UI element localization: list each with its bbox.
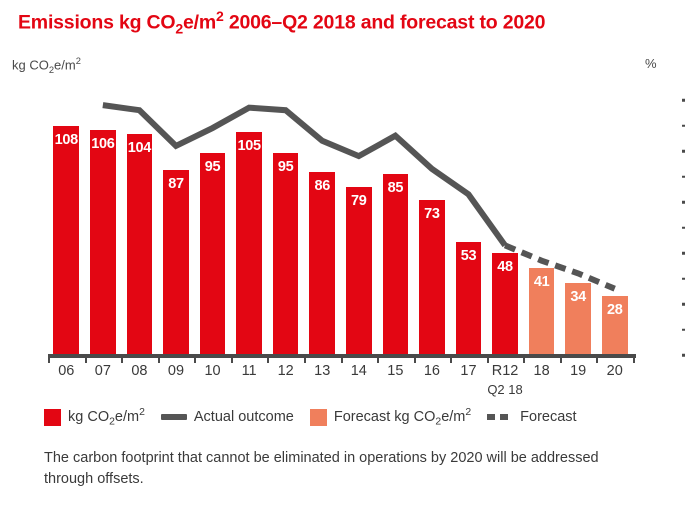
bar-value-label: 28 (607, 302, 623, 318)
bar-value-label: 85 (388, 180, 404, 196)
bar-rect: 108 (53, 126, 79, 356)
x-axis-tick-label: 06 (58, 363, 74, 379)
bar-rect: 48 (492, 253, 518, 355)
bar-rect: 87 (163, 170, 189, 355)
legend-label: Forecast (520, 409, 576, 425)
x-axis-tick-label: 13 (314, 363, 330, 379)
x-axis-tick-mark (85, 356, 87, 363)
bar-rect: 34 (565, 283, 591, 355)
chart-footnote: The carbon footprint that cannot be elim… (44, 448, 644, 489)
bar-value-label: 108 (55, 132, 78, 148)
x-axis-tick-label: 09 (168, 363, 184, 379)
actual-bar[interactable]: 86 (309, 172, 335, 355)
bar-value-label: 87 (168, 176, 184, 192)
bar-value-label: 48 (497, 259, 513, 275)
actual-bar[interactable]: 87 (163, 170, 189, 355)
legend-label: Forecast kg CO2e/m2 (334, 407, 471, 428)
actual-bar[interactable]: 105 (236, 132, 262, 355)
x-axis-tick-label: 12 (278, 363, 294, 379)
x-axis-tick-label: R12 (492, 363, 519, 379)
actual-bar[interactable]: 95 (200, 153, 226, 355)
x-axis-tick-mark (450, 356, 452, 363)
actual-bar[interactable]: 95 (273, 153, 299, 355)
forecast-bar[interactable]: 34 (565, 283, 591, 355)
x-axis-tick-mark (487, 356, 489, 363)
x-axis-tick-label: 20 (607, 363, 623, 379)
x-axis-tick-mark (633, 356, 635, 363)
x-axis-tick-mark (377, 356, 379, 363)
x-axis-tick-mark (194, 356, 196, 363)
x-axis-tick-label: 14 (351, 363, 367, 379)
x-axis-tick-mark (158, 356, 160, 363)
legend-item[interactable]: Forecast kg CO2e/m2 (310, 407, 471, 428)
x-axis-tick-label: 18 (534, 363, 550, 379)
bar-rect: 79 (346, 187, 372, 355)
bar-series: 108106104879510595867985735348413428 (48, 100, 633, 355)
x-axis-tick-mark (304, 356, 306, 363)
bar-value-label: 86 (314, 178, 330, 194)
x-axis-tick-mark (414, 356, 416, 363)
x-axis-tick-mark (341, 356, 343, 363)
actual-bar[interactable]: 104 (127, 134, 153, 355)
actual-bar[interactable]: 108 (53, 126, 79, 356)
x-axis-tick-mark (121, 356, 123, 363)
bar-rect: 95 (273, 153, 299, 355)
chart-legend: kg CO2e/m2Actual outcomeForecast kg CO2e… (44, 407, 593, 428)
x-axis-sub-label: Q2 18 (487, 382, 522, 397)
x-axis-tick-label: 10 (204, 363, 220, 379)
plot-area: 020406080100120 0−10−20−30−40−50−60−70−8… (48, 100, 633, 355)
bar-value-label: 73 (424, 206, 440, 222)
legend-label: kg CO2e/m2 (68, 407, 145, 428)
actual-bar[interactable]: 106 (90, 130, 116, 355)
x-axis-tick-mark (596, 356, 598, 363)
x-axis-tick-label: 08 (131, 363, 147, 379)
actual-bar[interactable]: 48 (492, 253, 518, 355)
bar-rect: 28 (602, 296, 628, 356)
bar-rect: 73 (419, 200, 445, 355)
x-axis-tick-label: 16 (424, 363, 440, 379)
x-axis-tick-label: 07 (95, 363, 111, 379)
actual-bar[interactable]: 73 (419, 200, 445, 355)
bar-rect: 85 (383, 174, 409, 355)
dashed-line-swatch (487, 414, 513, 420)
salmon-square-swatch (310, 409, 327, 426)
bar-value-label: 105 (237, 138, 260, 154)
x-axis-tick-mark (560, 356, 562, 363)
forecast-bar[interactable]: 41 (529, 268, 555, 355)
chart-title: Emissions kg CO2e/m2 2006–Q2 2018 and fo… (18, 8, 545, 36)
bar-value-label: 95 (278, 159, 294, 175)
legend-label: Actual outcome (194, 409, 294, 425)
bar-value-label: 104 (128, 140, 151, 156)
solid-line-swatch (161, 414, 187, 420)
bar-value-label: 95 (205, 159, 221, 175)
red-square-swatch (44, 409, 61, 426)
x-axis-tick-label: 17 (460, 363, 476, 379)
legend-item[interactable]: Actual outcome (161, 409, 294, 425)
x-axis-tick-mark (523, 356, 525, 363)
bar-value-label: 41 (534, 274, 550, 290)
bar-rect: 104 (127, 134, 153, 355)
chart-container: Emissions kg CO2e/m2 2006–Q2 2018 and fo… (0, 0, 685, 507)
bar-value-label: 53 (461, 248, 477, 264)
bar-rect: 53 (456, 242, 482, 355)
actual-bar[interactable]: 85 (383, 174, 409, 355)
forecast-bar[interactable]: 28 (602, 296, 628, 356)
bar-value-label: 79 (351, 193, 367, 209)
x-axis-tick-mark (267, 356, 269, 363)
legend-item[interactable]: kg CO2e/m2 (44, 407, 145, 428)
bar-rect: 105 (236, 132, 262, 355)
x-axis-tick-label: 11 (242, 363, 257, 379)
right-axis-unit-label: % (645, 56, 657, 71)
legend-item[interactable]: Forecast (487, 409, 576, 425)
x-axis-tick-mark (48, 356, 50, 363)
actual-bar[interactable]: 53 (456, 242, 482, 355)
bar-rect: 86 (309, 172, 335, 355)
bar-rect: 41 (529, 268, 555, 355)
x-axis-tick-label: 15 (387, 363, 403, 379)
bar-value-label: 106 (91, 136, 114, 152)
bar-value-label: 34 (570, 289, 586, 305)
actual-bar[interactable]: 79 (346, 187, 372, 355)
left-axis-unit-label: kg CO2e/m2 (12, 56, 81, 75)
bar-rect: 106 (90, 130, 116, 355)
x-axis-tick-label: 19 (570, 363, 586, 379)
x-axis-tick-mark (231, 356, 233, 363)
bar-rect: 95 (200, 153, 226, 355)
